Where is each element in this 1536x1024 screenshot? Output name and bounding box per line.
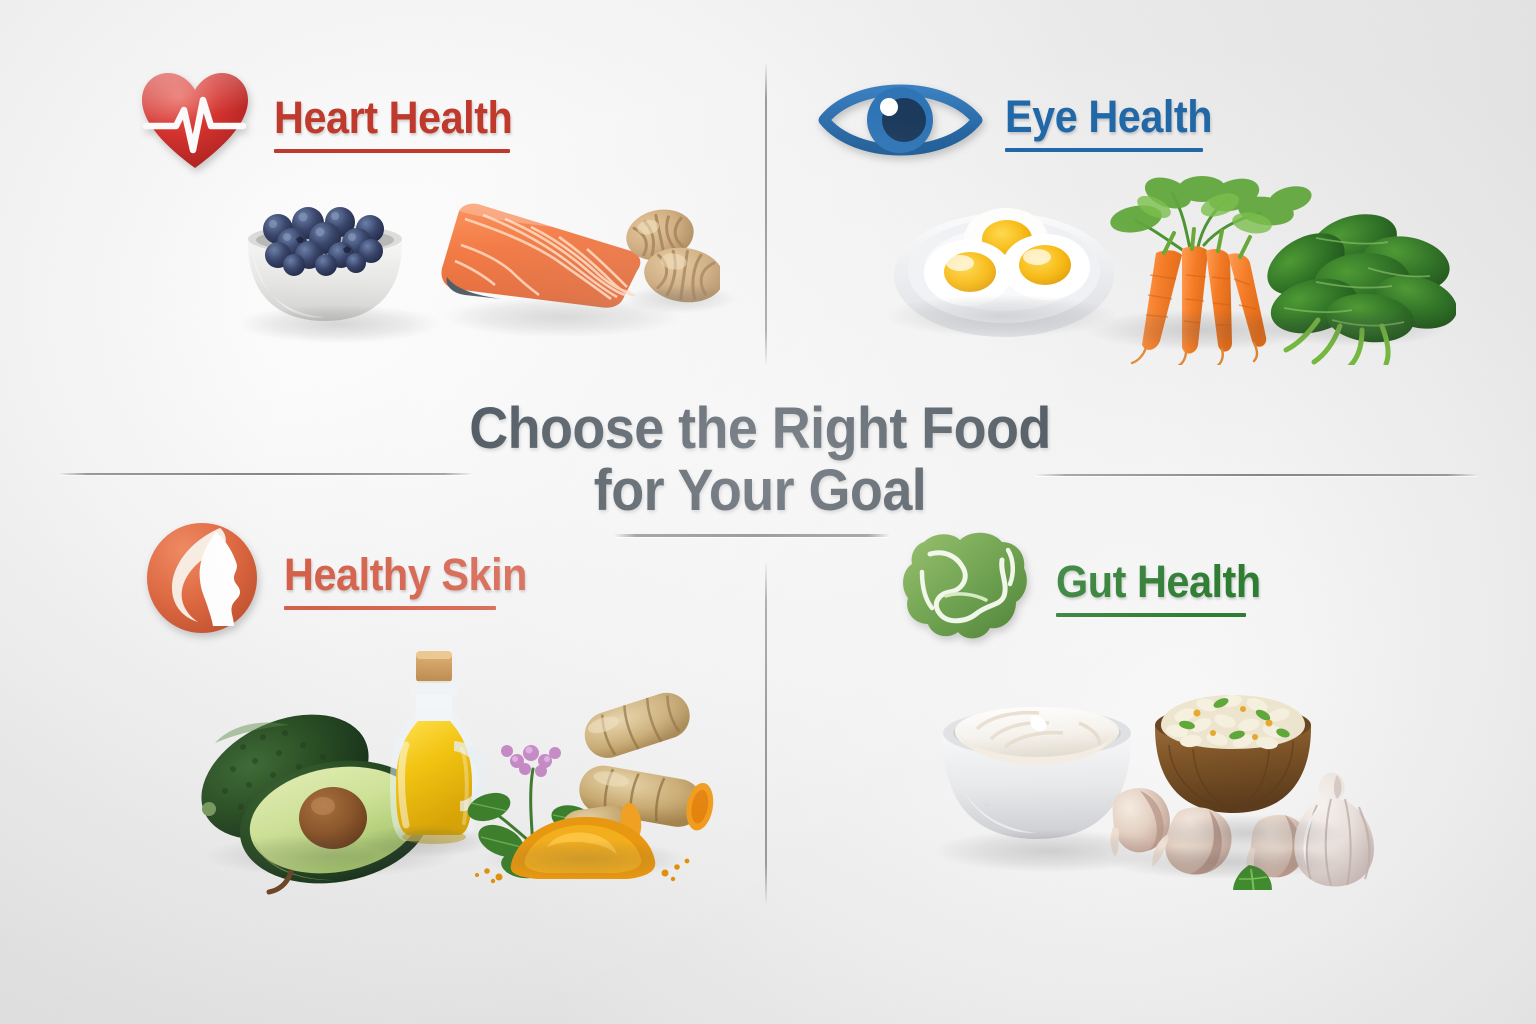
category-healthy-skin[interactable]: Healthy Skin — [146, 522, 548, 639]
category-heart-health-label: Heart Health — [274, 95, 512, 140]
vertical-divider-top — [765, 62, 767, 367]
category-gut-health-underline — [1056, 613, 1246, 617]
page-title-line-2: for Your Goal — [462, 460, 1057, 522]
food-group-gut-health — [925, 665, 1405, 890]
page-title-underline — [614, 534, 890, 537]
gut-foods-illustration — [925, 665, 1405, 890]
eye-foods-illustration — [876, 165, 1456, 365]
category-eye-health[interactable]: Eye Health — [818, 74, 1230, 171]
category-eye-health-underline — [1005, 148, 1203, 152]
category-healthy-skin-text: Healthy Skin — [284, 552, 548, 610]
category-heart-health[interactable]: Heart Health — [140, 70, 533, 177]
category-heart-health-text: Heart Health — [274, 95, 533, 153]
page-title-line-1: Choose the Right Food — [462, 398, 1057, 460]
category-healthy-skin-underline — [284, 606, 496, 610]
heart-pulse-icon — [140, 70, 250, 177]
category-healthy-skin-label: Healthy Skin — [284, 552, 527, 597]
category-gut-health-text: Gut Health — [1056, 559, 1279, 617]
horizontal-divider-right — [1035, 474, 1478, 476]
woman-profile-icon — [146, 522, 258, 639]
category-heart-health-underline — [274, 149, 510, 153]
category-eye-health-text: Eye Health — [1005, 94, 1230, 152]
category-eye-health-label: Eye Health — [1005, 94, 1212, 139]
category-gut-health-label: Gut Health — [1056, 559, 1261, 604]
food-group-eye-health — [876, 165, 1456, 365]
food-group-heart-health — [230, 185, 720, 350]
vertical-divider-bottom — [765, 560, 767, 905]
horizontal-divider-left — [58, 473, 473, 475]
intestine-icon — [900, 526, 1032, 649]
food-group-healthy-skin — [185, 625, 715, 895]
eye-icon — [818, 74, 983, 171]
heart-foods-illustration — [230, 185, 720, 350]
category-gut-health[interactable]: Gut Health — [900, 526, 1279, 649]
page-title: Choose the Right Food for Your Goal — [440, 398, 1080, 522]
skin-foods-illustration — [185, 625, 715, 895]
